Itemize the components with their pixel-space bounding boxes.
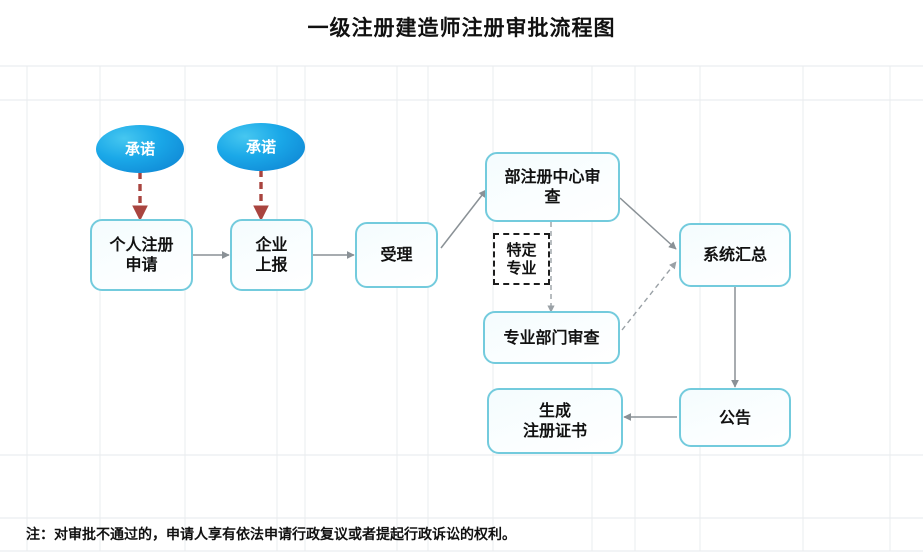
node-ministry-registration-center-review-label: 部注册中心审 查 — [504, 167, 600, 206]
node-promise-2-label: 承诺 — [246, 138, 276, 156]
node-accept[interactable]: 受理 — [355, 222, 438, 288]
flowchart-canvas: 一级注册建造师注册审批流程图 — [0, 0, 923, 552]
node-company-report-label: 企业 上报 — [255, 235, 287, 274]
node-professional-department-review[interactable]: 专业部门审查 — [483, 311, 620, 364]
node-professional-department-review-label: 专业部门审查 — [503, 328, 599, 348]
node-generate-certificate[interactable]: 生成 注册证书 — [487, 388, 623, 454]
node-system-summary[interactable]: 系统汇总 — [679, 223, 791, 287]
node-generate-certificate-label: 生成 注册证书 — [523, 401, 587, 440]
node-ministry-registration-center-review[interactable]: 部注册中心审 查 — [485, 152, 620, 222]
node-promise-1-label: 承诺 — [125, 140, 155, 158]
page-title: 一级注册建造师注册审批流程图 — [0, 12, 923, 42]
node-personal-application-label: 个人注册 申请 — [109, 235, 173, 274]
footer-note: 注：对审批不通过的，申请人享有依法申请行政复议或者提起行政诉讼的权利。 — [26, 524, 516, 544]
node-company-report[interactable]: 企业 上报 — [230, 219, 313, 291]
edge-ministry-review-to-system-total — [620, 198, 676, 249]
node-accept-label: 受理 — [380, 245, 412, 265]
node-promise-1[interactable]: 承诺 — [96, 125, 184, 173]
node-special-major[interactable]: 特定 专业 — [493, 233, 550, 285]
node-system-summary-label: 系统汇总 — [703, 245, 767, 265]
edge-dept-review-to-system-total — [622, 262, 676, 330]
node-promise-2[interactable]: 承诺 — [217, 123, 305, 171]
edge-accept-to-ministry-review — [441, 190, 486, 248]
node-announcement-label: 公告 — [719, 408, 751, 428]
node-special-major-label: 特定 专业 — [506, 241, 536, 278]
node-announcement[interactable]: 公告 — [679, 388, 791, 447]
node-personal-application[interactable]: 个人注册 申请 — [90, 219, 193, 291]
